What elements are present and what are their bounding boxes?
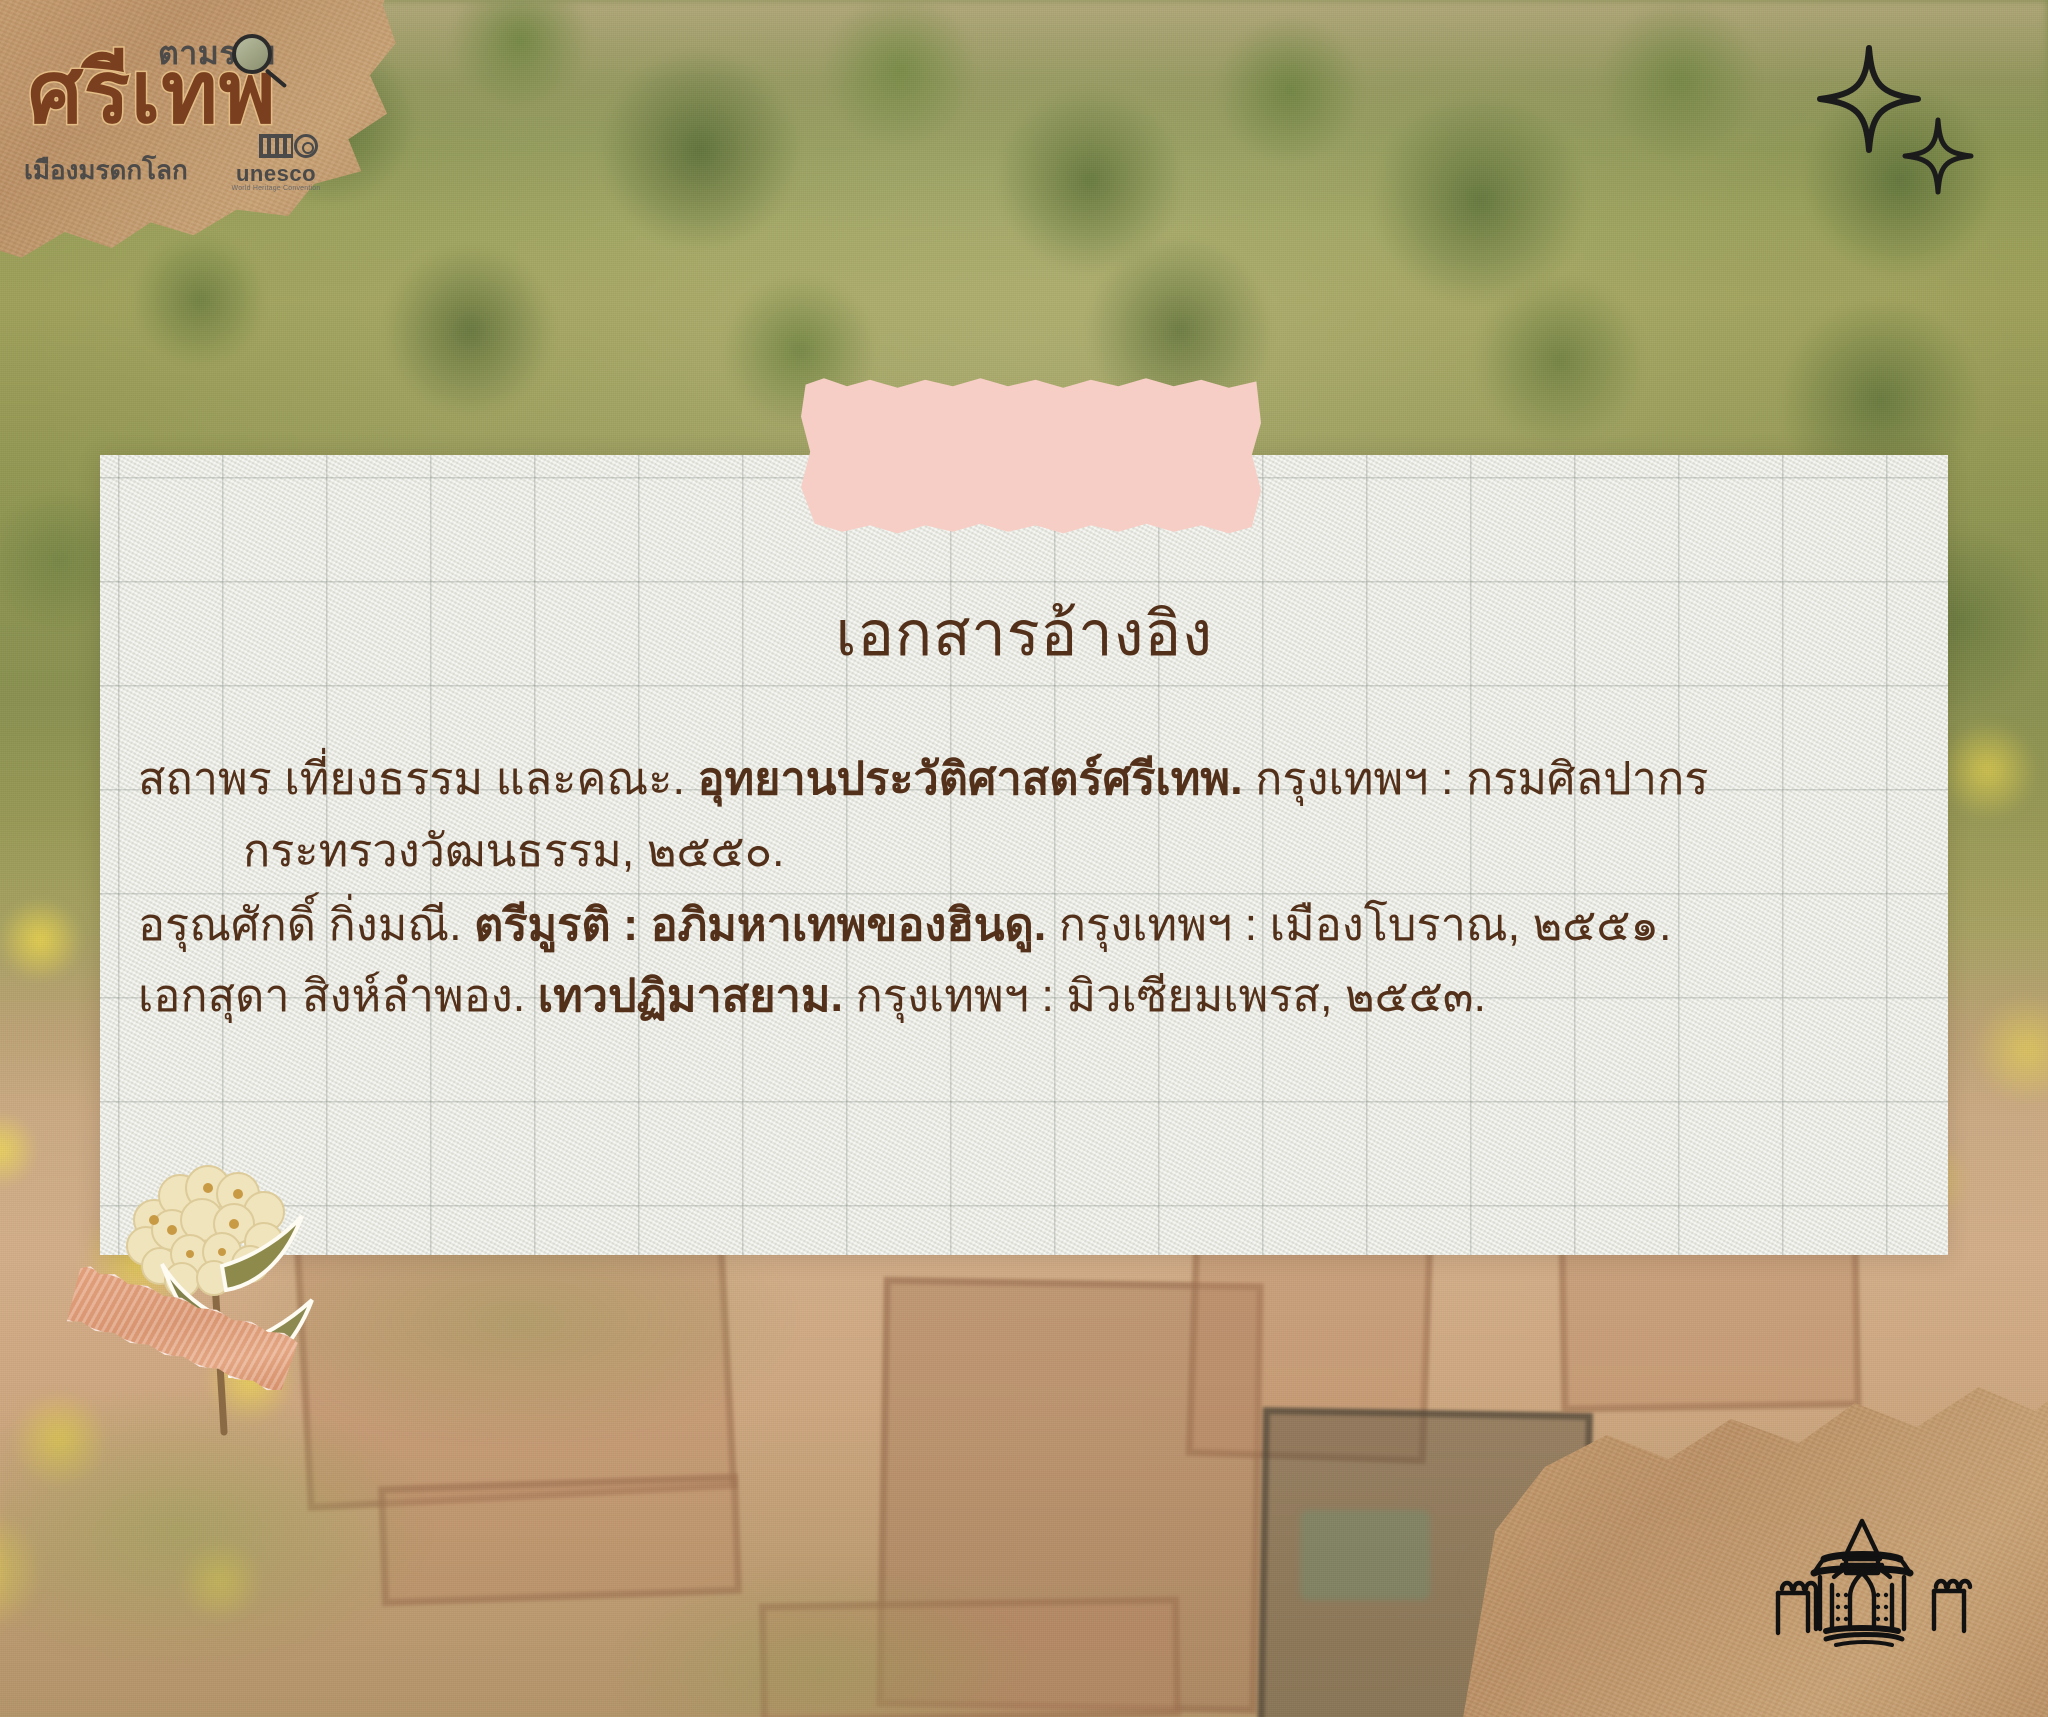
reference-text: กระทรวงวัฒนธรรม, ๒๕๕๐. (243, 825, 785, 876)
sparkle-decoration (1814, 42, 1994, 202)
reference-line: สถาพร เที่ยงธรรม และคณะ. อุทยานประวัติศา… (138, 751, 1910, 807)
unesco-wordmark: unesco (230, 163, 322, 185)
four-point-star-small-icon (1905, 120, 1971, 192)
reference-text: อรุณศักดิ์ กิ่งมณี. (138, 899, 474, 950)
page-title: เอกสารอ้างอิง (100, 585, 1948, 683)
reference-text: กรุงเทพฯ : เมืองโบราณ, ๒๕๕๑. (1046, 899, 1671, 950)
reference-line: อรุณศักดิ์ กิ่งมณี. ตรีมูรติ : อภิมหาเทพ… (138, 897, 1910, 953)
reference-title: ตรีมูรติ : อภิมหาเทพของฮินดู. (474, 899, 1046, 950)
poster-canvas: ตามรอย ศรีเทพ เมืองมรดกโลก unesco World … (0, 0, 2048, 1717)
reference-line: กระทรวงวัฒนธรรม, ๒๕๕๐. (138, 823, 1910, 879)
logo-sub-label: เมืองมรดกโลก (24, 150, 188, 191)
reference-list: สถาพร เที่ยงธรรม และคณะ. อุทยานประวัติศา… (100, 751, 1948, 1024)
reference-line: เอกสุดา สิงห์ลำพอง. เทวปฏิมาสยาม. กรุงเท… (138, 968, 1910, 1024)
unesco-circle-icon (294, 134, 318, 158)
reference-text: สถาพร เที่ยงธรรม และคณะ. (138, 753, 697, 804)
ancient-gate-sketch-icon (1746, 1511, 1996, 1681)
reference-text: กรุงเทพฯ : กรมศิลปากร (1243, 753, 1709, 804)
reference-text: กรุงเทพฯ : มิวเซียมเพรส, ๒๕๕๓. (843, 970, 1486, 1021)
reference-title: อุทยานประวัติศาสตร์ศรีเทพ. (697, 753, 1242, 804)
unesco-temple-icon (259, 134, 293, 158)
reference-text: เอกสุดา สิงห์ลำพอง. (138, 970, 538, 1021)
four-point-star-icon (1820, 48, 1918, 150)
brand-logo[interactable]: ตามรอย ศรีเทพ เมืองมรดกโลก unesco World … (18, 22, 328, 192)
unesco-logo: unesco World Heritage Convention (230, 134, 322, 190)
unesco-tagline: World Heritage Convention (230, 185, 322, 192)
magnifying-glass-icon (232, 34, 272, 74)
card-content: เอกสารอ้างอิง สถาพร เที่ยงธรรม และคณะ. อ… (100, 455, 1948, 1255)
reference-title: เทวปฏิมาสยาม. (538, 970, 843, 1021)
